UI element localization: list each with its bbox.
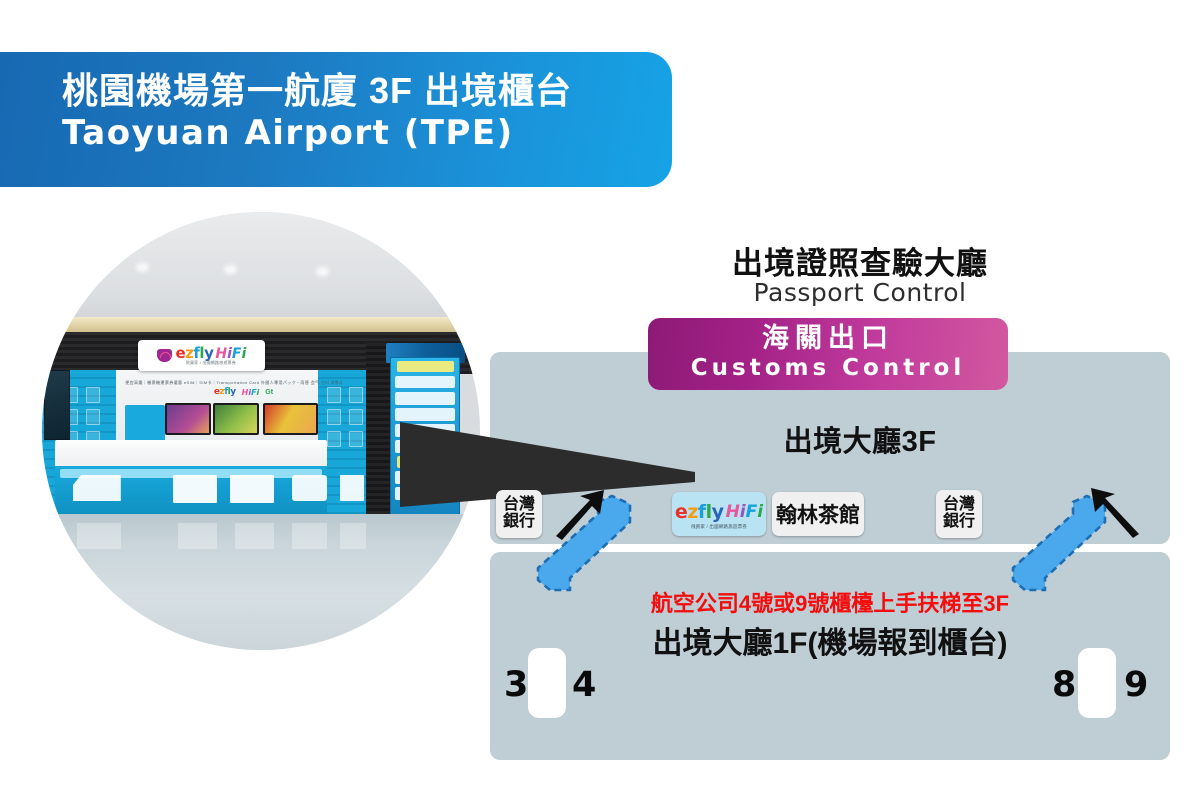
counter-number-3: 3 bbox=[504, 665, 528, 705]
customs-control-label-en: Customs Control bbox=[648, 356, 1008, 381]
passport-control-label-zh: 出境證照查驗大廳 bbox=[700, 238, 1020, 283]
bank-char: 行 bbox=[519, 514, 535, 531]
tag-bank-of-taiwan-left[interactable]: 台 灣 銀 行 bbox=[496, 490, 542, 538]
bank-char: 行 bbox=[959, 514, 975, 531]
tag-bank-of-taiwan-right[interactable]: 台 灣 銀 行 bbox=[936, 490, 982, 538]
counter-number-8: 8 bbox=[1052, 665, 1076, 705]
floor-3f-label: 出境大廳3F bbox=[700, 418, 1020, 460]
airport-guide-infographic: 桃園機場第一航廈 3F 出境櫃台 Taoyuan Airport (TPE) bbox=[0, 0, 1200, 800]
passport-control-label-en: Passport Control bbox=[700, 278, 1020, 307]
customs-control-banner: 海關出口 Customs Control bbox=[648, 318, 1008, 390]
airport-map: 出境證照查驗大廳 Passport Control 海關出口 Customs C… bbox=[0, 0, 1200, 800]
tag-ezfly-store[interactable]: ezfly HiFi 飛買家 / 出國網路旅遊票券 bbox=[672, 492, 766, 536]
bank-char: 銀 bbox=[503, 514, 519, 531]
bank-char: 灣 bbox=[519, 497, 535, 514]
bank-label-grid: 台 灣 銀 行 bbox=[503, 497, 535, 530]
arrow-up-left-icon bbox=[1085, 486, 1145, 538]
customs-control-label-zh: 海關出口 bbox=[648, 322, 1008, 356]
counter-number-4: 4 bbox=[572, 665, 596, 705]
bank-char: 銀 bbox=[943, 514, 959, 531]
tag-hifi-logo-text: HiFi bbox=[726, 504, 764, 521]
check-in-counter-right bbox=[1078, 648, 1116, 718]
check-in-counter-left bbox=[528, 648, 566, 718]
tag-hanlin-tea-house[interactable]: 翰林茶館 bbox=[772, 492, 864, 536]
counter-number-9: 9 bbox=[1124, 665, 1148, 705]
bank-char: 灣 bbox=[959, 497, 975, 514]
tag-ezfly-subtitle: 飛買家 / 出國網路旅遊票券 bbox=[691, 524, 747, 530]
bank-char: 台 bbox=[503, 497, 519, 514]
bank-label-grid: 台 灣 銀 行 bbox=[943, 497, 975, 530]
bank-char: 台 bbox=[943, 497, 959, 514]
arrow-up-right-icon bbox=[550, 488, 610, 540]
tag-ezfly-logo-text: ezfly bbox=[675, 503, 724, 522]
floor-1f-label: 出境大廳1F(機場報到櫃台) bbox=[560, 618, 1100, 662]
